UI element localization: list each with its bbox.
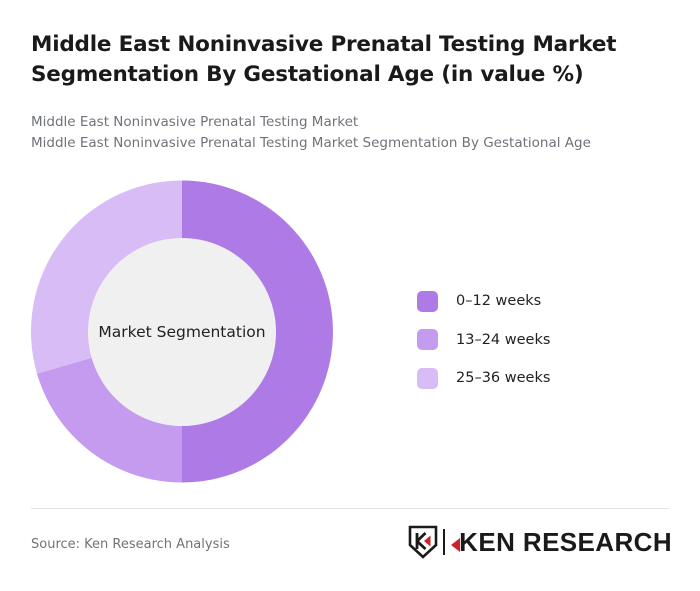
subtitle-block: Middle East Noninvasive Prenatal Testing… [31,112,661,154]
donut-center-label: Market Segmentation [88,238,276,426]
shield-k-icon [408,525,438,559]
footer-divider [31,508,669,509]
chart-legend: 0–12 weeks13–24 weeks25–36 weeks [417,282,550,398]
legend-item[interactable]: 0–12 weeks [417,282,550,321]
legend-label: 25–36 weeks [456,370,550,386]
subtitle-line-1: Middle East Noninvasive Prenatal Testing… [31,112,661,133]
legend-label: 13–24 weeks [456,332,550,348]
logo-wordmark: KEN RESEARCH [451,529,672,555]
ken-research-logo: KEN RESEARCH [408,524,672,560]
page-title: Middle East Noninvasive Prenatal Testing… [31,30,651,90]
logo-divider [443,529,445,555]
legend-item[interactable]: 13–24 weeks [417,321,550,360]
legend-swatch [417,329,438,350]
legend-item[interactable]: 25–36 weeks [417,359,550,398]
legend-swatch [417,291,438,312]
legend-swatch [417,368,438,389]
logo-wordmark-text: KEN RESEARCH [459,527,672,557]
source-note: Source: Ken Research Analysis [31,537,230,552]
donut-chart: Market Segmentation [31,180,333,483]
legend-label: 0–12 weeks [456,293,541,309]
subtitle-line-2: Middle East Noninvasive Prenatal Testing… [31,133,661,154]
chart-card: Middle East Noninvasive Prenatal Testing… [0,0,700,591]
